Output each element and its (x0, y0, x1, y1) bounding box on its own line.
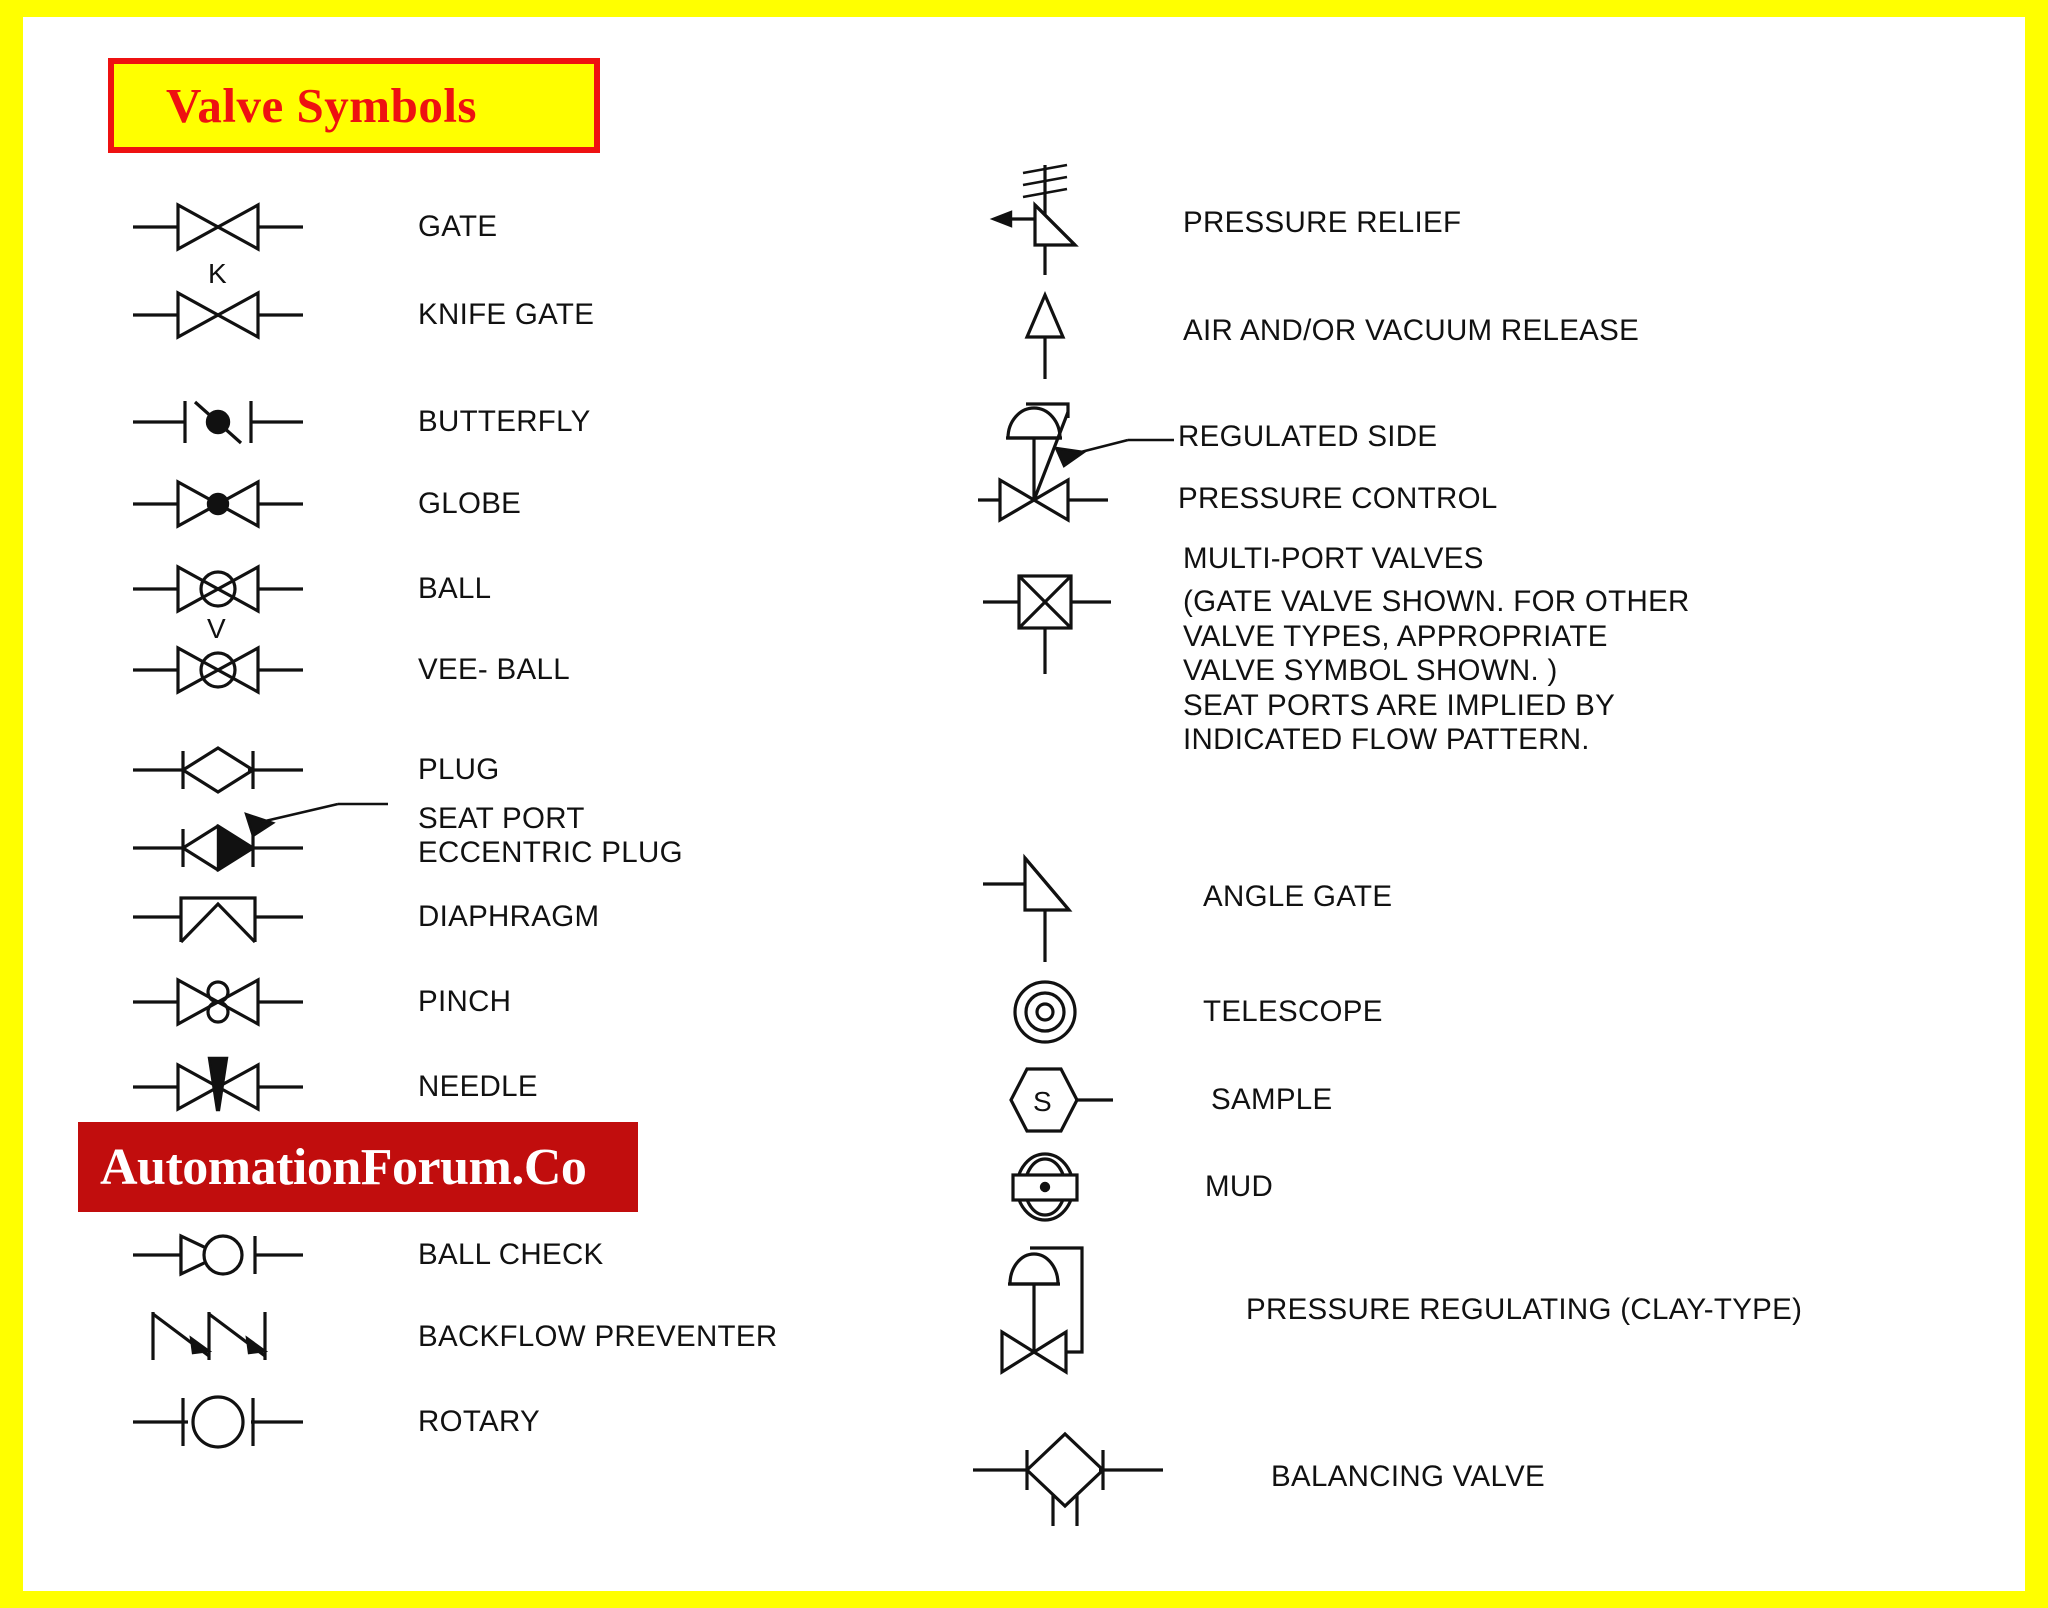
symbol-label: AIR AND/OR VACUUM RELEASE (1183, 314, 1639, 349)
symbol-label: VEE- BALL (418, 653, 570, 688)
symbol-label: BACKFLOW PREVENTER (418, 1320, 777, 1355)
vee-ball-marker: V (207, 613, 226, 644)
pinch-valve-symbol (133, 967, 303, 1037)
logo-text: AutomationForum.Co (78, 1138, 586, 1197)
symbol-label: SAMPLE (1211, 1083, 1333, 1118)
mud-valve-symbol (983, 1142, 1133, 1232)
symbol-label: PLUG (418, 753, 500, 788)
automationforum-logo: AutomationForum.Co (78, 1122, 638, 1212)
multi-port-valve-symbol (983, 562, 1143, 682)
symbol-label: GLOBE (418, 487, 521, 522)
symbol-row-knife-gate: K KNIFE GATE (133, 257, 594, 349)
symbol-label: PRESSURE CONTROL (1178, 482, 1498, 517)
symbol-row-mud: MUD (983, 1142, 1273, 1232)
pressure-relief-valve-symbol (983, 157, 1133, 277)
symbol-row-backflow-preventer: BACKFLOW PREVENTER (131, 1302, 777, 1372)
symbol-label: PRESSURE RELIEF (1183, 206, 1461, 241)
balancing-valve-symbol (973, 1422, 1163, 1532)
symbol-row-multi-port: MULTI-PORT VALVES (GATE VALVE SHOWN. FOR… (983, 562, 1143, 682)
symbol-row-rotary: ROTARY (133, 1387, 540, 1457)
telescope-valve-symbol (983, 972, 1133, 1052)
rotary-valve-symbol (133, 1387, 303, 1457)
symbol-row-eccentric-plug: SEAT PORT ECCENTRIC PLUG (133, 790, 683, 882)
globe-valve-symbol (133, 469, 303, 539)
knife-gate-valve-symbol: K (133, 257, 303, 349)
knife-gate-marker: K (208, 258, 227, 289)
symbol-row-pinch: PINCH (133, 967, 511, 1037)
symbol-row-pressure-control: REGULATED SIDE PRESSURE CONTROL (978, 382, 1208, 522)
symbol-label: GATE (418, 210, 497, 245)
symbol-row-diaphragm: DIAPHRAGM (133, 882, 599, 952)
symbol-label: MULTI-PORT VALVES (1183, 542, 1484, 577)
symbol-row-ball-check: BALL CHECK (133, 1220, 604, 1290)
symbol-label: PRESSURE REGULATING (CLAY-TYPE) (1246, 1293, 1802, 1328)
symbol-label: SEAT PORT ECCENTRIC PLUG (418, 802, 683, 871)
symbol-row-balancing-valve: BALANCING VALVE (973, 1422, 1545, 1532)
needle-valve-symbol (133, 1052, 303, 1122)
symbol-label: ANGLE GATE (1203, 880, 1392, 915)
symbol-row-needle: NEEDLE (133, 1052, 538, 1122)
symbol-row-globe: GLOBE (133, 469, 521, 539)
symbol-label: NEEDLE (418, 1070, 538, 1105)
multi-port-description: (GATE VALVE SHOWN. FOR OTHER VALVE TYPES… (1183, 585, 1690, 758)
title-banner: Valve Symbols (108, 58, 600, 153)
symbol-label: BALL CHECK (418, 1238, 604, 1273)
symbol-row-angle-gate: ANGLE GATE (983, 852, 1392, 972)
symbol-label: DIAPHRAGM (418, 900, 599, 935)
symbol-row-pressure-relief: PRESSURE RELIEF (983, 157, 1461, 277)
diaphragm-valve-symbol (133, 882, 303, 952)
symbol-label: BUTTERFLY (418, 405, 591, 440)
symbol-row-sample: S SAMPLE (983, 1057, 1333, 1143)
ball-check-valve-symbol (133, 1220, 303, 1290)
symbol-label: PINCH (418, 985, 511, 1020)
vee-ball-valve-symbol: V (133, 612, 303, 704)
sample-glyph: S (1033, 1086, 1052, 1117)
backflow-preventer-symbol (131, 1302, 301, 1372)
symbol-label: BALANCING VALVE (1271, 1460, 1545, 1495)
regulated-side-callout-label: REGULATED SIDE (1178, 420, 1437, 455)
symbol-row-telescope: TELESCOPE (983, 972, 1383, 1052)
gate-valve-symbol (133, 192, 303, 262)
symbol-row-air-vacuum-release: AIR AND/OR VACUUM RELEASE (983, 287, 1639, 387)
page-title: Valve Symbols (114, 77, 477, 134)
symbol-label: BALL (418, 572, 491, 607)
pressure-regulating-valve-symbol (978, 1232, 1158, 1382)
symbol-label: KNIFE GATE (418, 298, 594, 333)
sample-valve-symbol: S (983, 1057, 1143, 1143)
symbol-label: MUD (1205, 1170, 1273, 1205)
eccentric-plug-valve-symbol (133, 790, 403, 882)
symbol-row-vee-ball: V VEE- BALL (133, 612, 570, 704)
symbol-row-pressure-regulating: PRESSURE REGULATING (CLAY-TYPE) (978, 1232, 1802, 1382)
symbol-label: ROTARY (418, 1405, 540, 1440)
air-vacuum-release-symbol (983, 287, 1133, 387)
butterfly-valve-symbol (133, 387, 303, 457)
symbol-row-butterfly: BUTTERFLY (133, 387, 591, 457)
symbol-row-gate: GATE (133, 192, 497, 262)
diagram-sheet: Valve Symbols GATE K KNIFE GATE (23, 17, 2025, 1591)
angle-gate-valve-symbol (983, 852, 1133, 972)
symbol-label: TELESCOPE (1203, 995, 1383, 1030)
pressure-control-valve-symbol (978, 382, 1208, 522)
